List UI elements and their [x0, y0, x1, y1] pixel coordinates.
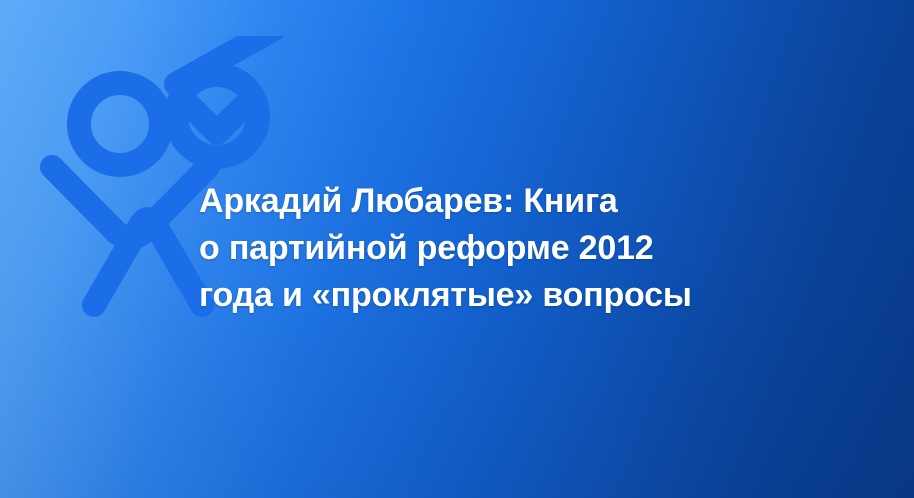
page-title: Аркадий Любарев: Книга о партийной рефор…	[199, 178, 759, 319]
headline-line-1: Аркадий Любарев: Книга	[199, 178, 759, 225]
check-mark-icon	[188, 104, 246, 133]
headline-line-2: о партийной реформе 2012	[199, 225, 759, 272]
headline-line-3: года и «проклятые» вопросы	[199, 272, 759, 319]
article-share-banner: Аркадий Любарев: Книга о партийной рефор…	[0, 0, 914, 498]
head-ring-left-circle	[79, 83, 161, 165]
